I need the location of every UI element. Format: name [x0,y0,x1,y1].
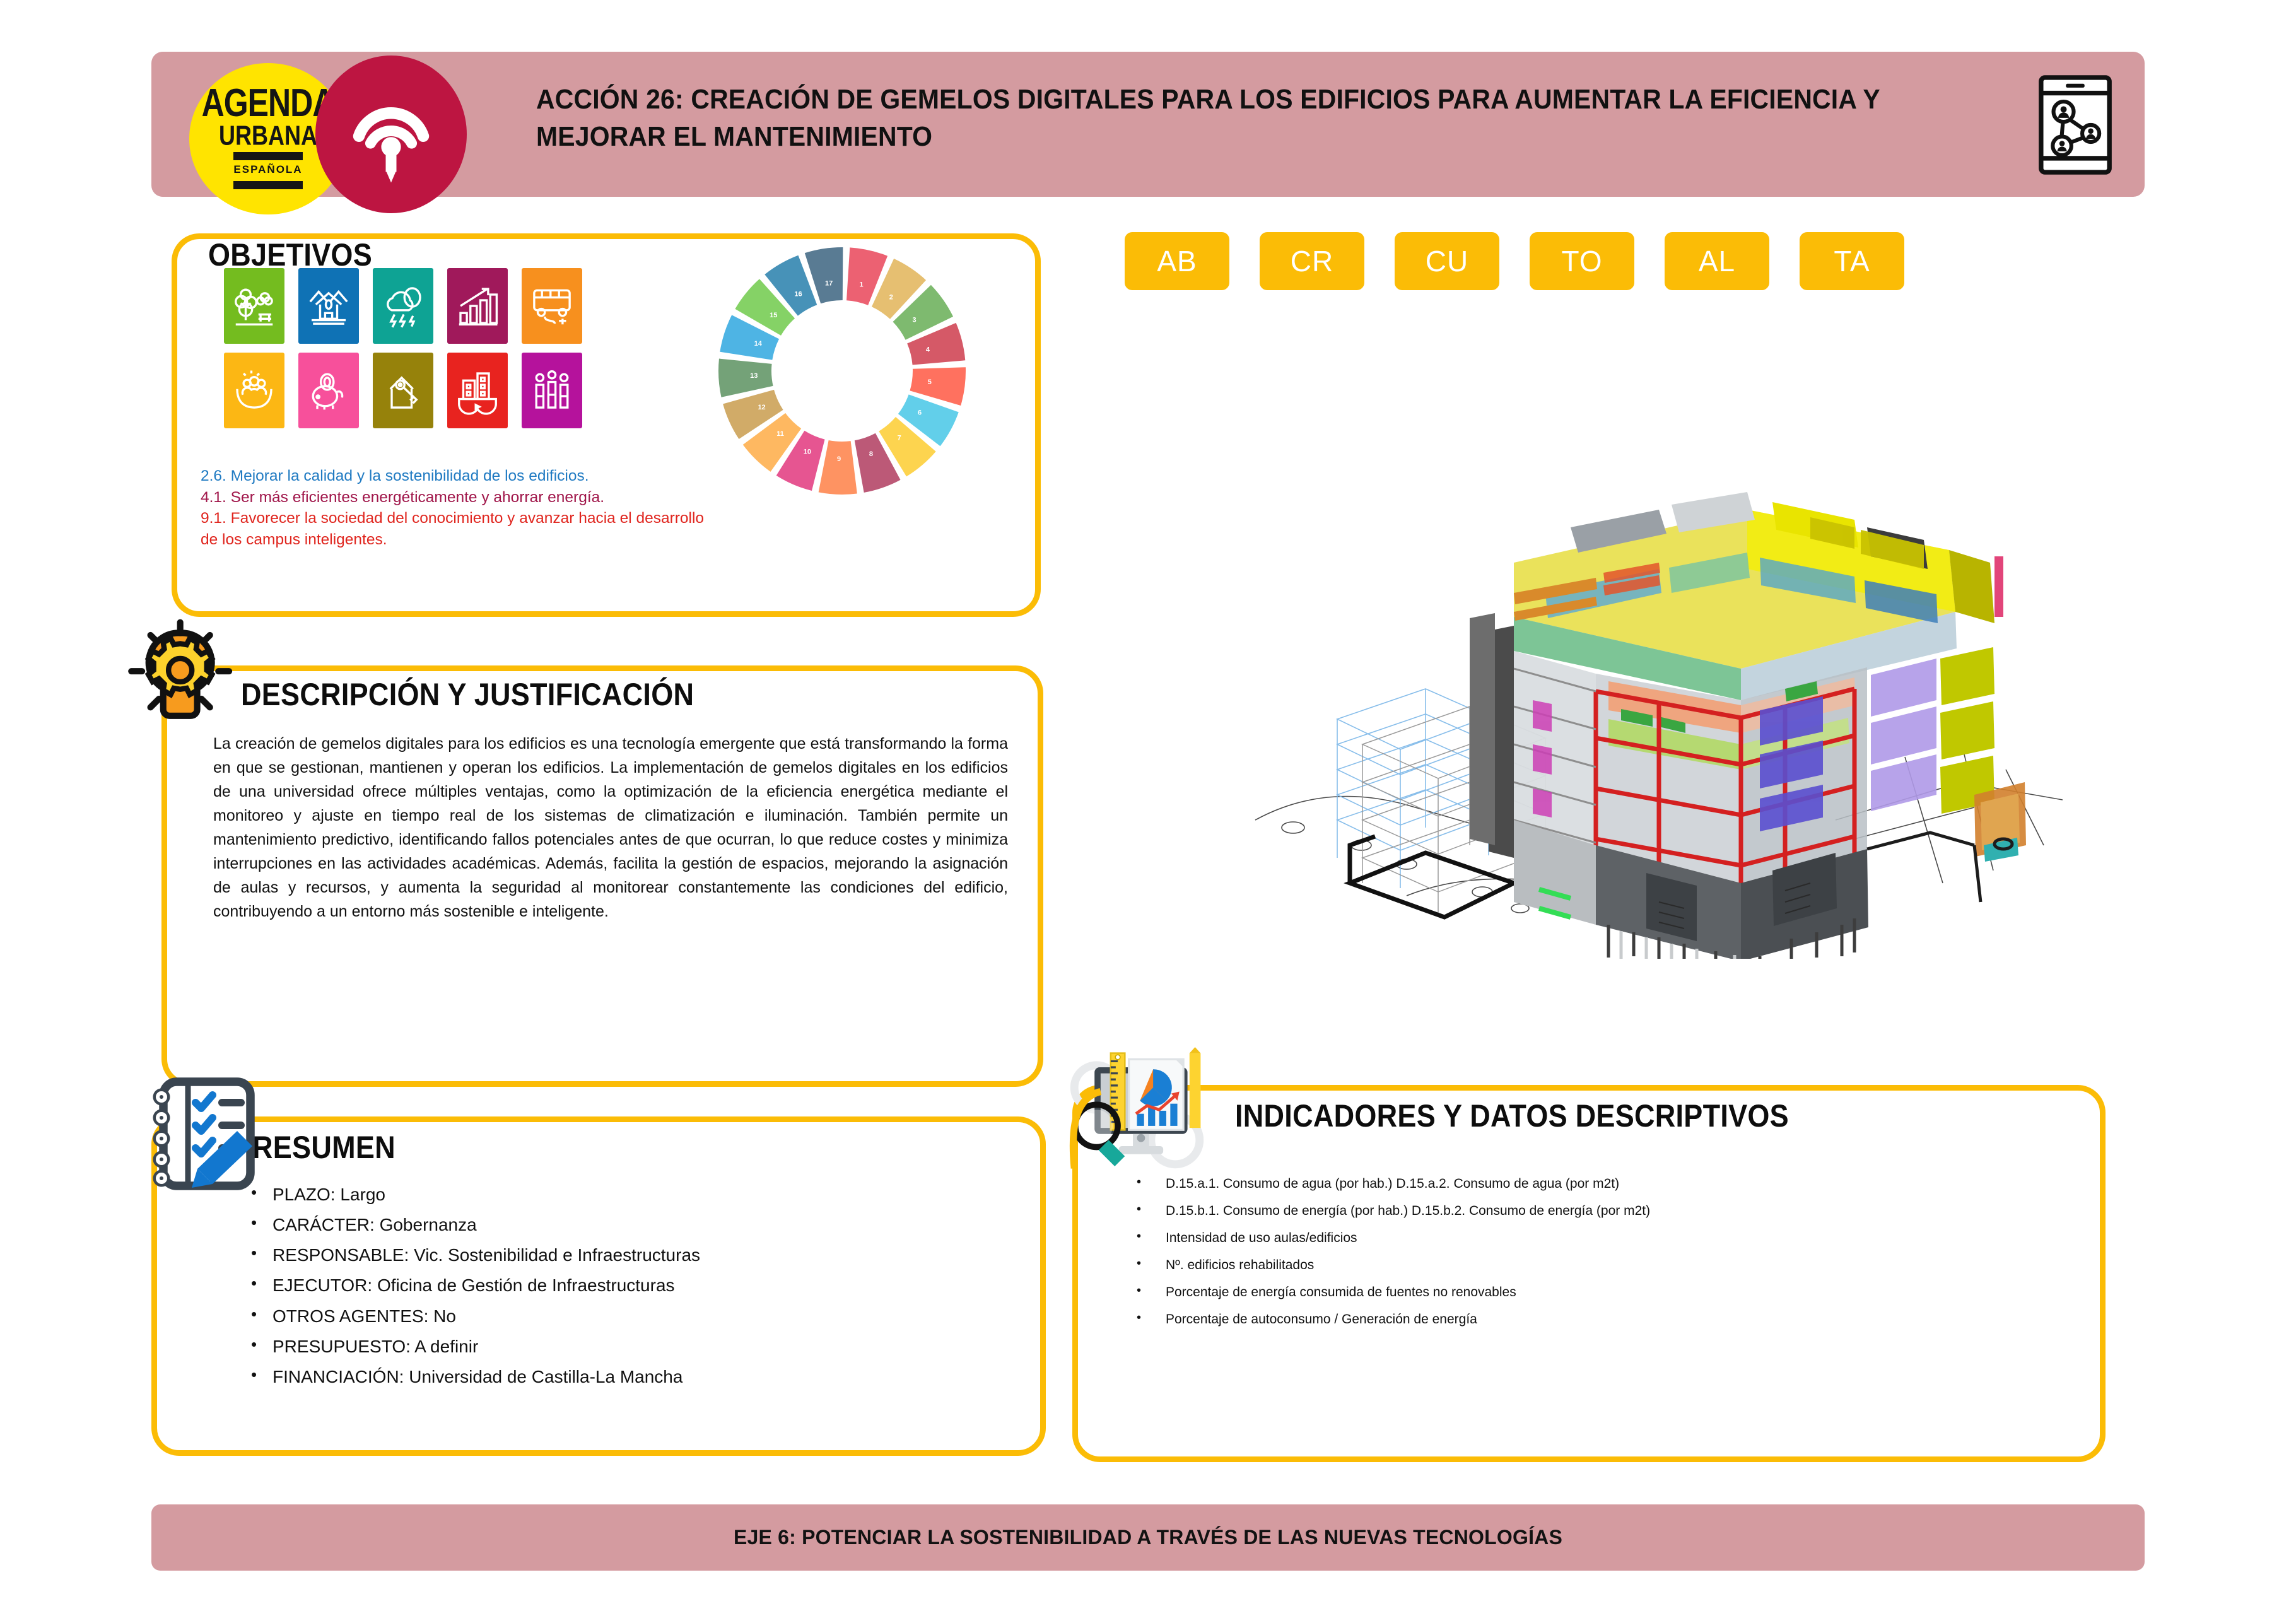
notepad-checklist-pencil-icon [146,1072,260,1193]
monitor-chart-ruler-magnifier-icon [1066,1047,1208,1176]
sdg-segment-number: 3 [913,317,917,324]
sdg-segment-number: 14 [754,340,763,348]
footer-text: EJE 6: POTENCIAR LA SOSTENIBILIDAD A TRA… [734,1526,1562,1549]
list-item: PLAZO: Largo [246,1180,990,1210]
objetivo-line-3: 9.1. Favorecer la sociedad del conocimie… [201,508,718,550]
page-title: ACCIÓN 26: CREACIÓN DE GEMELOS DIGITALES… [536,81,1915,156]
logo-line-espanola: ESPAÑOLA [233,163,302,176]
sdg-segment-number: 5 [928,378,932,386]
resumen-title: RESUMEN [252,1129,395,1166]
sdg-segment-number: 17 [825,280,833,288]
broadcast-rocket-icon [315,56,467,213]
logo-rule-top [233,152,303,160]
list-item: PRESUPUESTO: A definir [246,1332,990,1362]
storm-cloud-icon [373,268,433,344]
list-item: Porcentaje de energía consumida de fuent… [1123,1279,2018,1306]
sdg-segment-9 [819,440,857,495]
bar-chart-growth-icon [447,268,508,344]
house-key-icon [373,353,433,428]
list-item: CARÁCTER: Gobernanza [246,1210,990,1240]
list-item: Porcentaje de autoconsumo / Generación d… [1123,1306,2018,1333]
hands-people-icon [224,353,284,428]
tag-to[interactable]: TO [1530,232,1634,290]
house-mountain-icon [298,268,359,344]
sdg-segment-number: 8 [869,450,873,458]
list-item: Intensidad de uso aulas/edificios [1123,1224,2018,1251]
sdg-segment-number: 13 [750,372,758,380]
objetivo-line-1: 2.6. Mejorar la calidad y la sostenibili… [201,466,718,487]
tag-ta[interactable]: TA [1800,232,1904,290]
list-item: D.15.a.1. Consumo de agua (por hab.) D.1… [1123,1170,2018,1197]
list-item: OTROS AGENTES: No [246,1301,990,1332]
buildings-icon [447,353,508,428]
descripcion-title: DESCRIPCIÓN Y JUSTIFICACIÓN [241,676,694,713]
lightbulb-gear-icon [126,618,255,729]
objetivo-line-2: 4.1. Ser más eficientes energéticamente … [201,487,718,508]
sdg-wheel-icon: 1234567891011121314151617 [716,245,968,497]
group-people-icon [522,353,582,428]
list-item: RESPONSABLE: Vic. Sostenibilidad e Infra… [246,1240,990,1270]
resumen-list: PLAZO: Largo CARÁCTER: Gobernanza RESPON… [246,1180,990,1392]
descripcion-body: La creación de gemelos digitales para lo… [213,732,1008,923]
sdg-segment-13 [718,359,773,397]
list-item: Nº. edificios rehabilitados [1123,1251,2018,1279]
tag-row: AB CR CU TO AL TA [1125,232,1904,290]
indicadores-list: D.15.a.1. Consumo de agua (por hab.) D.1… [1123,1170,2018,1333]
indicadores-title: INDICADORES Y DATOS DESCRIPTIVOS [1235,1098,1789,1134]
logo-rule-bottom [233,181,303,189]
bim-building-3d-model [1217,404,2063,959]
sdg-segment-number: 11 [776,430,784,438]
sdg-segment-number: 7 [898,435,901,442]
sdg-segment-number: 1 [859,281,863,288]
smartphone-network-icon [2034,74,2116,175]
objetivos-lines: 2.6. Mejorar la calidad y la sostenibili… [201,466,718,550]
tag-cu[interactable]: CU [1395,232,1499,290]
sdg-segment-number: 10 [804,448,811,456]
list-item: D.15.b.1. Consumo de energía (por hab.) … [1123,1197,2018,1224]
park-tree-icon [224,268,284,344]
sdg-segment-number: 2 [889,294,893,302]
list-item: EJECUTOR: Oficina de Gestión de Infraest… [246,1270,990,1301]
piggy-bank-icon [298,353,359,428]
sdg-segment-number: 6 [918,409,922,417]
sdg-segment-number: 12 [758,404,765,411]
sdg-segment-number: 15 [770,312,777,319]
sdg-segment-number: 4 [926,346,930,353]
objetivos-icon-grid [224,268,665,437]
tag-al[interactable]: AL [1665,232,1769,290]
tag-ab[interactable]: AB [1125,232,1229,290]
logo-line-urbana: URBANA [219,122,317,149]
tag-cr[interactable]: CR [1260,232,1364,290]
logo-line-agenda: AGENDA [202,85,335,122]
sdg-segment-number: 16 [794,290,802,298]
list-item: FINANCIACIÓN: Universidad de Castilla-La… [246,1362,990,1392]
electric-bus-icon [522,268,582,344]
sdg-segment-number: 9 [837,455,841,463]
footer-bar: EJE 6: POTENCIAR LA SOSTENIBILIDAD A TRA… [151,1504,2145,1571]
